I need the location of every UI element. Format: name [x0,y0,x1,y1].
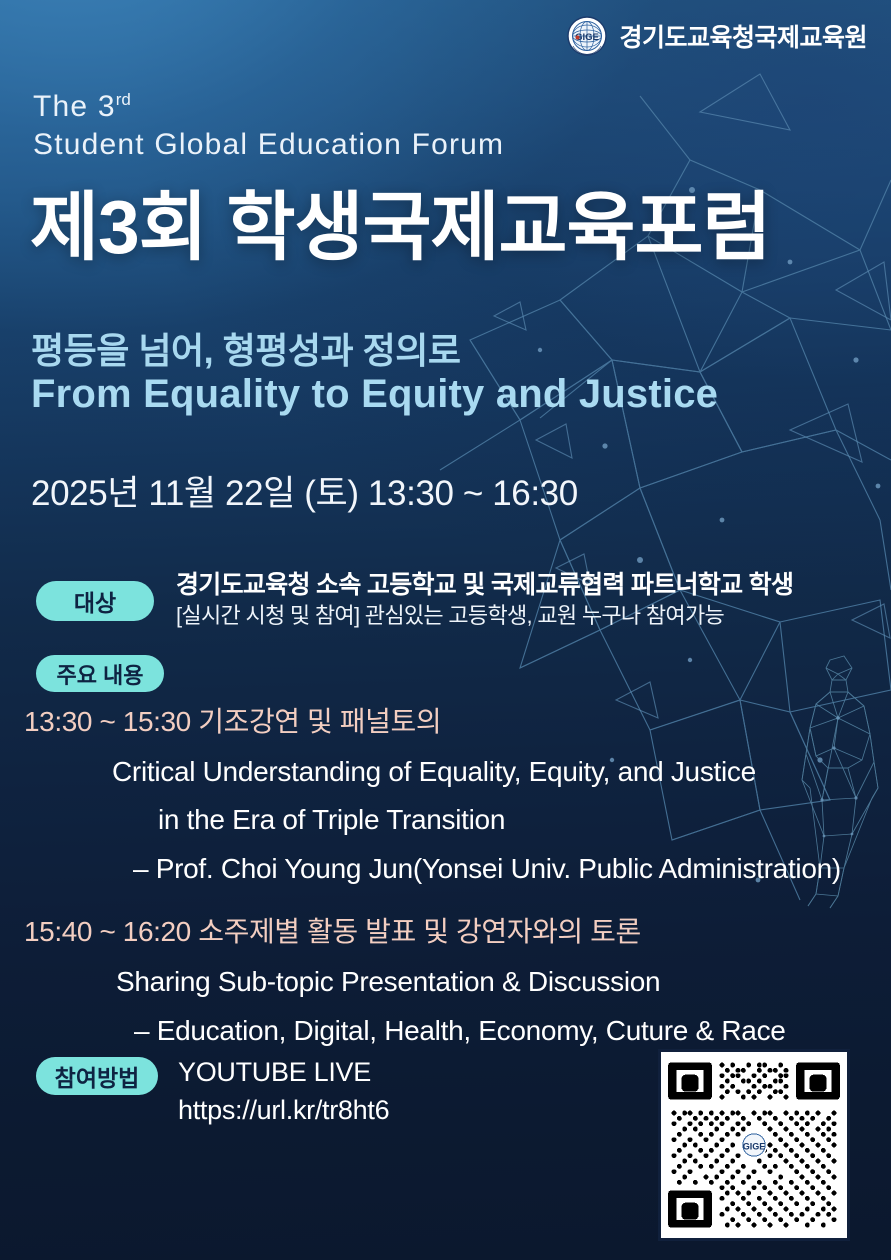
subtitle-english: From Equality to Equity and Justice [31,372,718,417]
join-lines: YOUTUBE LIVE https://url.kr/tr8ht6 [178,1053,389,1130]
subtitle-korean: 평등을 넘어, 형평성과 정의로 [31,322,460,374]
english-ordinal: The 3 [33,90,116,123]
english-ordinal-line: The 3rd [33,88,504,126]
session-1-speaker: – Prof. Choi Young Jun(Yonsei Univ. Publ… [24,845,867,893]
english-forum-name: Student Global Education Forum [33,126,504,164]
event-datetime: 2025년 11월 22일 (토) 13:30 ~ 16:30 [31,465,578,516]
join-url[interactable]: https://url.kr/tr8ht6 [178,1091,389,1129]
gige-globe-emblem-icon: GIGE [567,16,607,56]
english-title: The 3rd Student Global Education Forum [33,88,504,164]
session-2-time: 15:40 ~ 16:20 소주제별 활동 발표 및 강연자와의 토론 [24,910,867,950]
session-1-title-line-2: in the Era of Triple Transition [24,796,867,844]
join-platform: YOUTUBE LIVE [178,1053,389,1091]
program-section: 13:30 ~ 15:30 기조강연 및 패널토의 Critical Under… [24,700,867,1055]
poster-root: GIGE 경기도교육청국제교육원 The 3rd Student Global … [0,0,891,1260]
program-badge: 주요 내용 [36,655,164,692]
audience-lines: 경기도교육청 소속 고등학교 및 국제교류협력 파트너학교 학생 [실시간 시청… [176,570,793,632]
session-2-topics: – Education, Digital, Health, Economy, C… [24,1007,867,1055]
page-title: 제3회 학생국제교육포럼 [30,190,771,265]
audience-section: 대상 경기도교육청 소속 고등학교 및 국제교류협력 파트너학교 학생 [실시간… [36,570,793,632]
qr-code-icon[interactable]: GIGE [661,1052,847,1238]
organization-name: 경기도교육청국제교육원 [619,18,867,54]
session-1-time: 13:30 ~ 15:30 기조강연 및 패널토의 [24,700,867,740]
organization-bar: GIGE 경기도교육청국제교육원 [567,16,867,56]
session-2-title-line-1: Sharing Sub-topic Presentation & Discuss… [24,958,867,1006]
session-1-title-line-1: Critical Understanding of Equality, Equi… [24,748,867,796]
join-badge: 참여방법 [36,1057,158,1095]
english-ordinal-suffix: rd [116,90,131,109]
join-section: 참여방법 YOUTUBE LIVE https://url.kr/tr8ht6 [36,1053,389,1130]
audience-secondary: [실시간 시청 및 참여] 관심있는 고등학생, 교원 누구나 참여가능 [176,601,793,632]
audience-primary: 경기도교육청 소속 고등학교 및 국제교류협력 파트너학교 학생 [176,570,793,601]
audience-badge: 대상 [36,581,154,621]
svg-text:GIGE: GIGE [743,1141,766,1151]
